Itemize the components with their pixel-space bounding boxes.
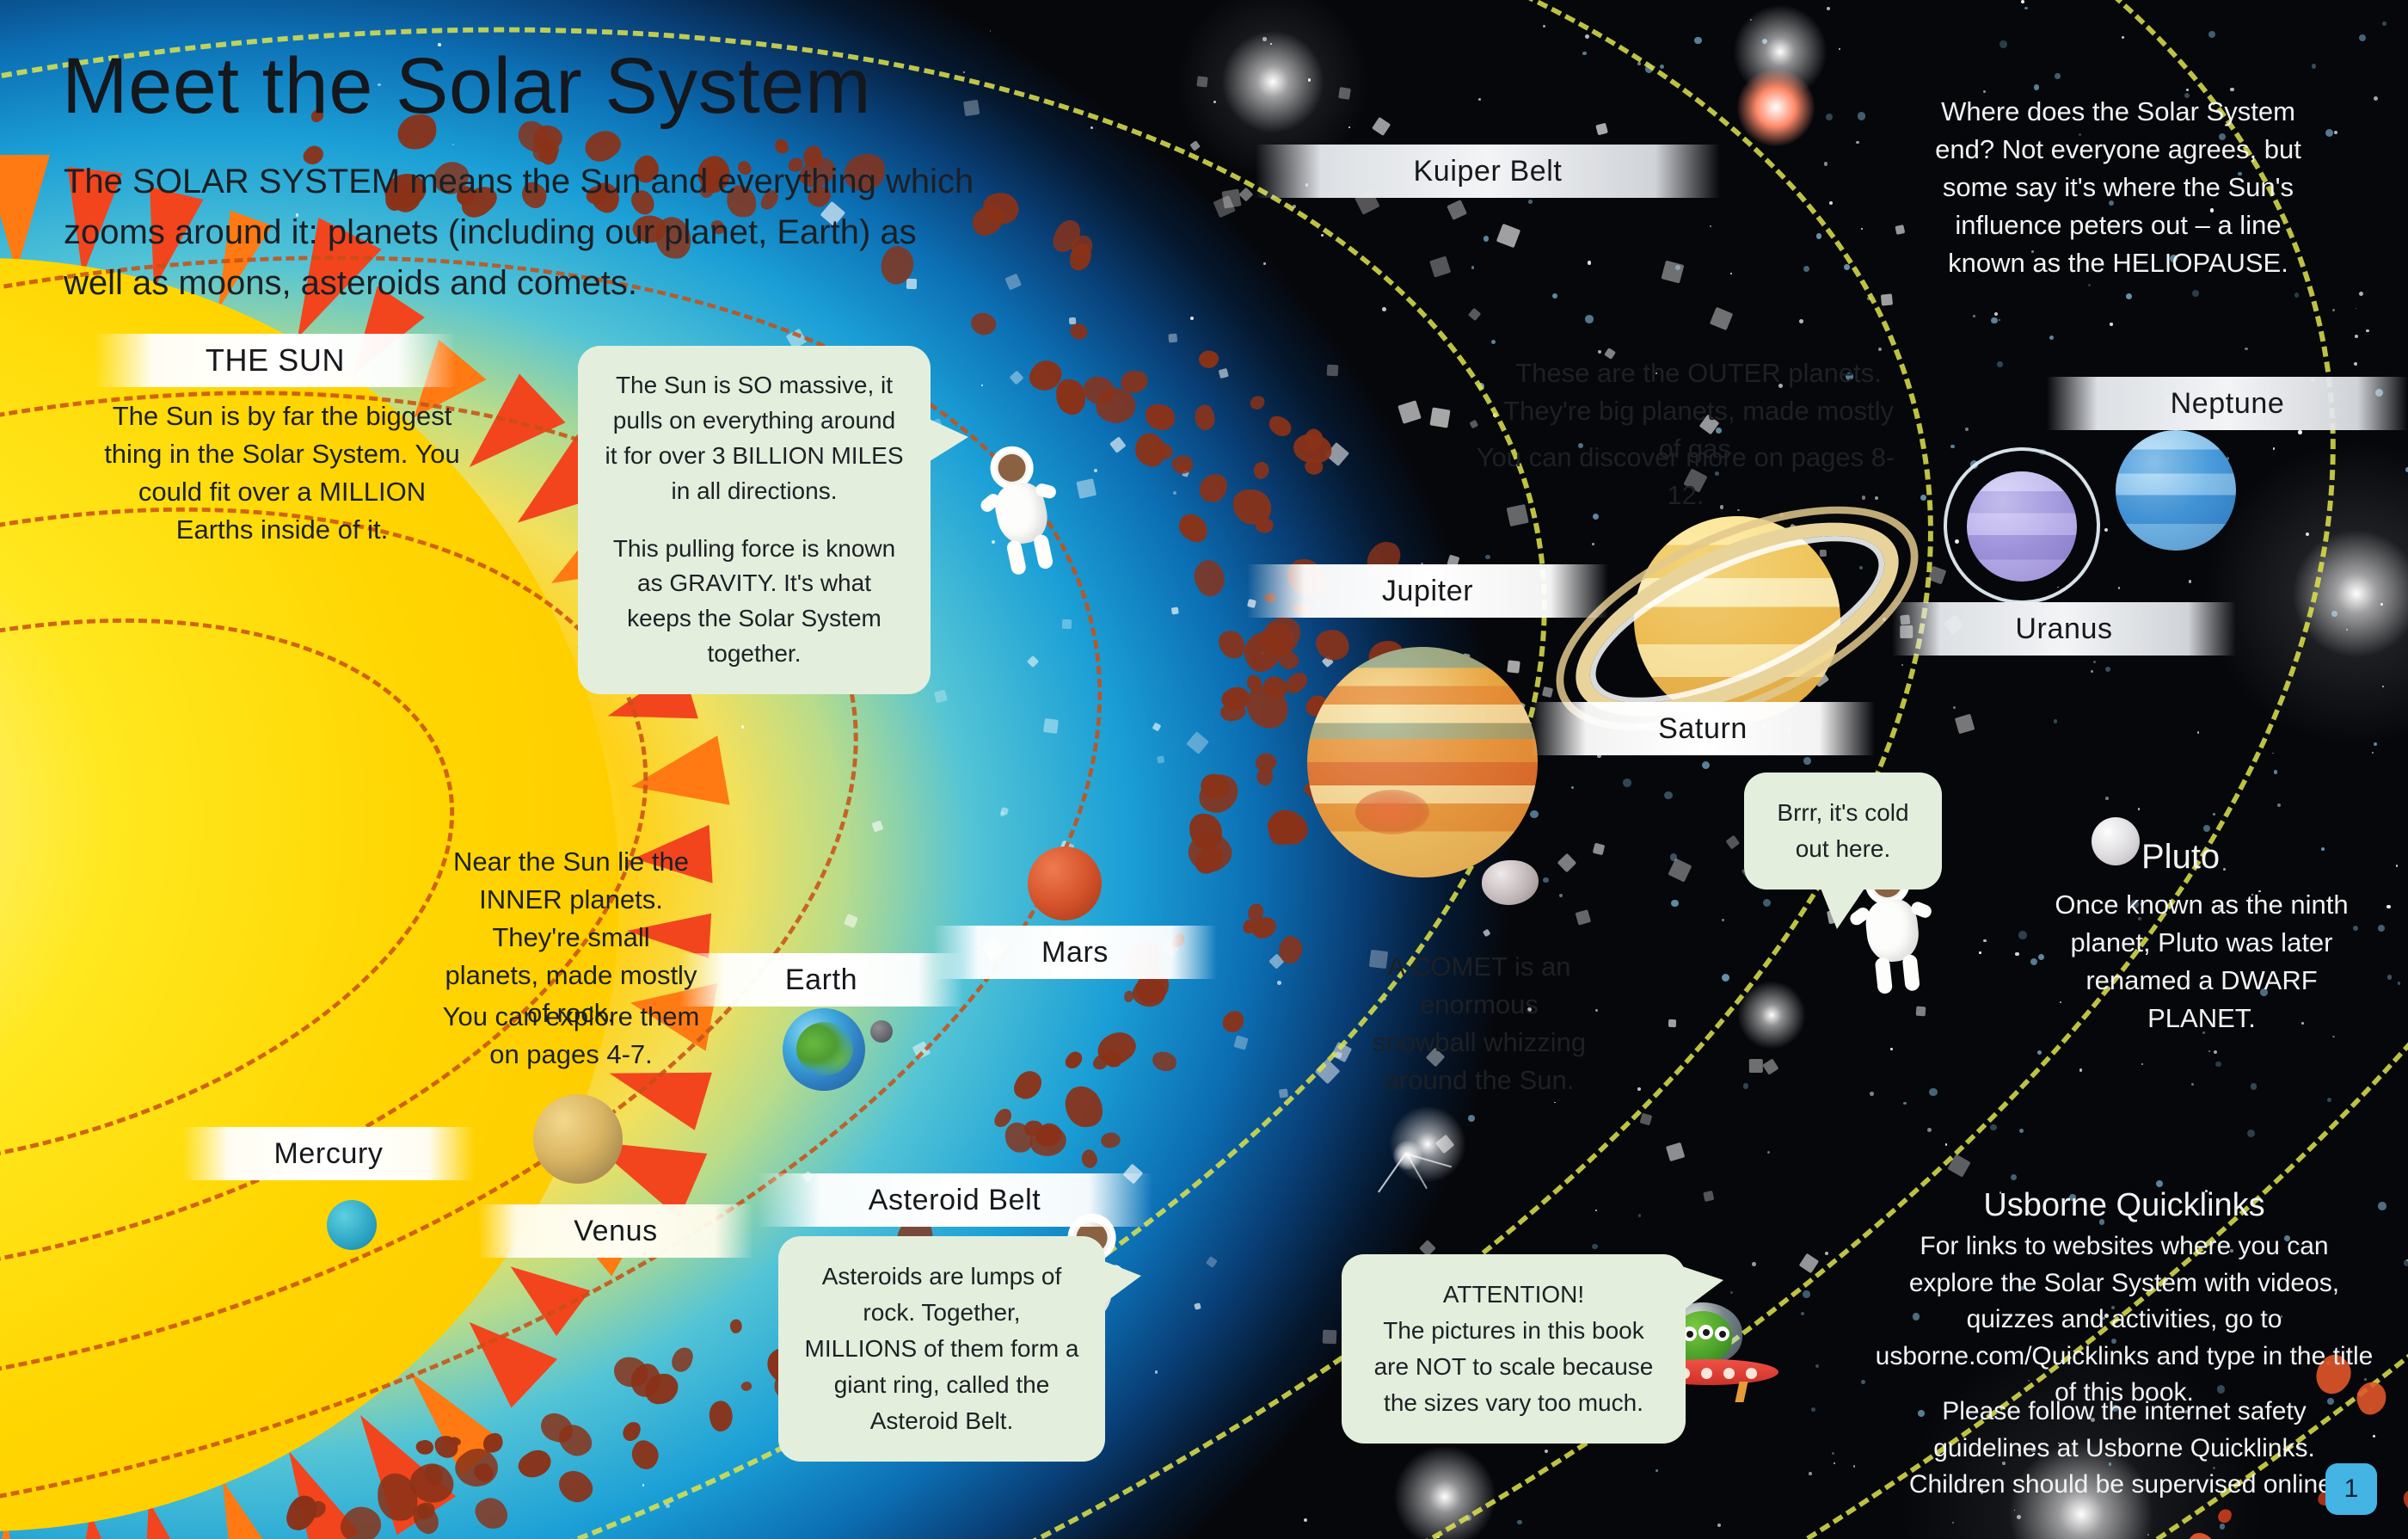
attention-bubble: ATTENTION! The pictures in this book are… <box>1342 1254 1686 1444</box>
label-saturn: Saturn <box>1531 702 1875 755</box>
earth-continents <box>796 1022 853 1075</box>
earth-moon <box>870 1020 893 1043</box>
label-pluto: Pluto <box>2141 833 2220 882</box>
gravity-text-1: The Sun is SO massive, it pulls on every… <box>604 368 905 509</box>
quicklinks-paragraph-2: Please follow the internet safety guidel… <box>1892 1394 2356 1504</box>
gravity-text-2: This pulling force is known as GRAVITY. … <box>604 532 905 673</box>
brrr-bubble: Brrr, it's cold out here. <box>1744 773 1942 890</box>
label-the-sun-text: THE SUN <box>206 342 345 379</box>
page-number-badge: 1 <box>2325 1463 2377 1515</box>
planet-venus[interactable] <box>533 1094 623 1184</box>
label-the-sun: THE SUN <box>95 334 456 387</box>
label-earth-text: Earth <box>785 963 857 997</box>
label-kuiper-belt-text: Kuiper Belt <box>1414 155 1563 188</box>
page-title: Meet the Solar System <box>62 41 871 132</box>
label-asteroid-belt: Asteroid Belt <box>757 1173 1152 1227</box>
label-neptune-text: Neptune <box>2171 387 2285 421</box>
label-earth: Earth <box>679 953 963 1007</box>
pluto-description: Once known as the ninth planet, Pluto wa… <box>2030 886 2374 1037</box>
brrr-bubble-text: Brrr, it's cold out here. <box>1770 795 1916 867</box>
jupiter-great-red-spot <box>1355 790 1429 834</box>
sun-description: The Sun is by far the biggest thing in t… <box>101 397 463 549</box>
attention-body: The pictures in this book are NOT to sca… <box>1367 1313 1660 1421</box>
planet-mercury[interactable] <box>327 1200 377 1250</box>
label-mercury-text: Mercury <box>274 1137 384 1171</box>
label-jupiter: Jupiter <box>1247 564 1608 618</box>
label-venus: Venus <box>478 1204 753 1258</box>
quicklinks-paragraph-1: For links to websites where you can expl… <box>1875 1228 2374 1412</box>
asteroid-belt-bubble: Asteroids are lumps of rock. Together, M… <box>778 1236 1105 1462</box>
planet-neptune[interactable] <box>2116 430 2236 551</box>
asteroid <box>2182 1528 2223 1539</box>
page-number-text: 1 <box>2344 1474 2359 1504</box>
label-mars-text: Mars <box>1041 936 1109 970</box>
asteroid <box>2400 1487 2408 1513</box>
label-venus-text: Venus <box>574 1215 658 1248</box>
label-saturn-text: Saturn <box>1658 712 1748 746</box>
asteroid-belt-bubble-text: Asteroids are lumps of rock. Together, M… <box>804 1259 1079 1439</box>
comet-icon <box>1374 1118 1477 1196</box>
label-neptune: Neptune <box>2047 377 2408 430</box>
quicklinks-title: Usborne Quicklinks <box>1926 1183 2322 1229</box>
planet-mars[interactable] <box>1028 846 1102 920</box>
label-uranus-text: Uranus <box>2015 613 2112 646</box>
planet-jupiter[interactable] <box>1307 647 1538 877</box>
label-uranus: Uranus <box>1892 602 2236 656</box>
label-kuiper-belt: Kuiper Belt <box>1256 145 1720 198</box>
comet-description: A COMET is an enormous snowball whizzing… <box>1367 948 1591 1099</box>
label-mars: Mars <box>933 926 1217 979</box>
label-pluto-text: Pluto <box>2141 838 2220 876</box>
attention-title: ATTENTION! <box>1367 1277 1660 1313</box>
page-intro: The SOLAR SYSTEM means the Sun and every… <box>64 157 975 310</box>
outer-planets-description-2: You can discover more on pages 8-12. <box>1462 439 1909 514</box>
asteroid <box>2217 1507 2233 1524</box>
solar-system-spread: Meet the Solar System The SOLAR SYSTEM m… <box>0 0 2408 1539</box>
label-jupiter-text: Jupiter <box>1382 575 1473 608</box>
gravity-bubble: The Sun is SO massive, it pulls on every… <box>578 346 931 694</box>
label-mercury: Mercury <box>182 1127 475 1180</box>
dwarf-planet-pluto[interactable] <box>2092 817 2140 865</box>
label-asteroid-belt-text: Asteroid Belt <box>869 1184 1041 1217</box>
inner-planets-description-2: You can explore them on pages 4-7. <box>442 998 700 1074</box>
heliopause-description: Where does the Solar System end? Not eve… <box>1933 93 2303 282</box>
